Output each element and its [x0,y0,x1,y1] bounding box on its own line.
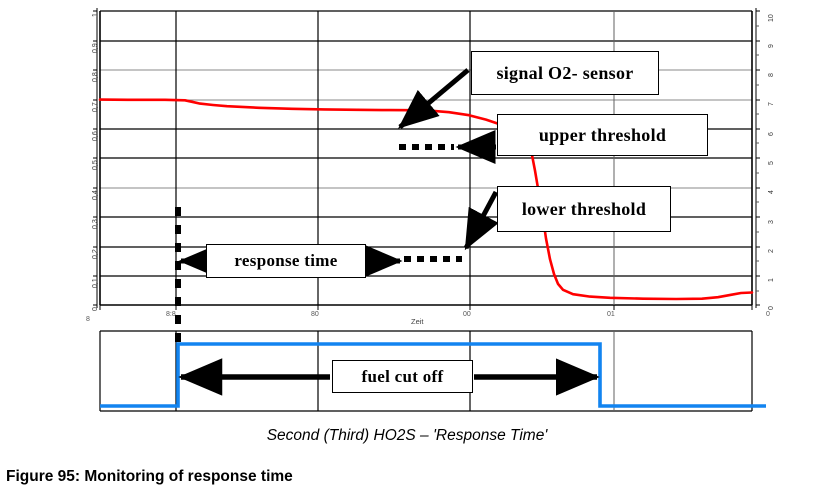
left-tick-09: 0,9 [92,43,99,53]
callout-signal-o2-sensor[interactable]: signal O2- sensor [471,51,659,95]
left-tick-07: 0,7 [92,102,99,112]
left-tick-01: 0,1 [92,278,99,288]
left-tick-08: 0,8 [92,72,99,82]
x-tick-5: 0 [766,311,770,318]
right-tick-9: 9 [768,44,775,48]
left-tick-02: 0,2 [92,249,99,259]
left-tick-0: 0 [92,307,99,311]
left-axis [93,8,97,308]
figure-subtitle: Second (Third) HO2S – 'Response Time' [0,427,814,445]
left-tick-04: 0,4 [92,190,99,200]
left-tick-1: 1 [92,13,99,17]
right-tick-10: 10 [768,14,775,22]
right-tick-3: 3 [768,220,775,224]
left-tick-06: 0,6 [92,131,99,141]
chart-canvas [0,0,814,500]
x-axis-title: Zeit [411,317,424,326]
callout-lower-threshold[interactable]: lower threshold [497,186,671,232]
callout-response-time[interactable]: response time [206,244,366,278]
arrow-signal-leader [400,70,468,127]
left-tick-03: 0,3 [92,219,99,229]
right-tick-0: 0 [768,306,775,310]
right-tick-1: 1 [768,278,775,282]
bottom-axis-top-plot [100,305,752,310]
right-tick-4: 4 [768,190,775,194]
right-tick-6: 6 [768,132,775,136]
x-tick-1: 8:8 [166,311,176,318]
callout-fuel-cut-off[interactable]: fuel cut off [332,360,473,393]
right-tick-8: 8 [768,73,775,77]
x-tick-3: 00 [463,311,471,318]
x-tick-2: 80 [311,311,319,318]
right-tick-2: 2 [768,249,775,253]
right-axis [756,8,760,308]
callout-upper-threshold[interactable]: upper threshold [497,114,708,156]
x-tick-0: 8 [86,316,90,323]
right-tick-7: 7 [768,102,775,106]
figure-caption: Figure 95: Monitoring of response time [6,468,293,486]
x-tick-4: 01 [607,311,615,318]
left-tick-05: 0,5 [92,160,99,170]
right-tick-5: 5 [768,161,775,165]
figure-container: 1 0,9 0,8 0,7 0,6 0,5 0,4 0,3 0,2 0,1 0 … [0,0,814,500]
